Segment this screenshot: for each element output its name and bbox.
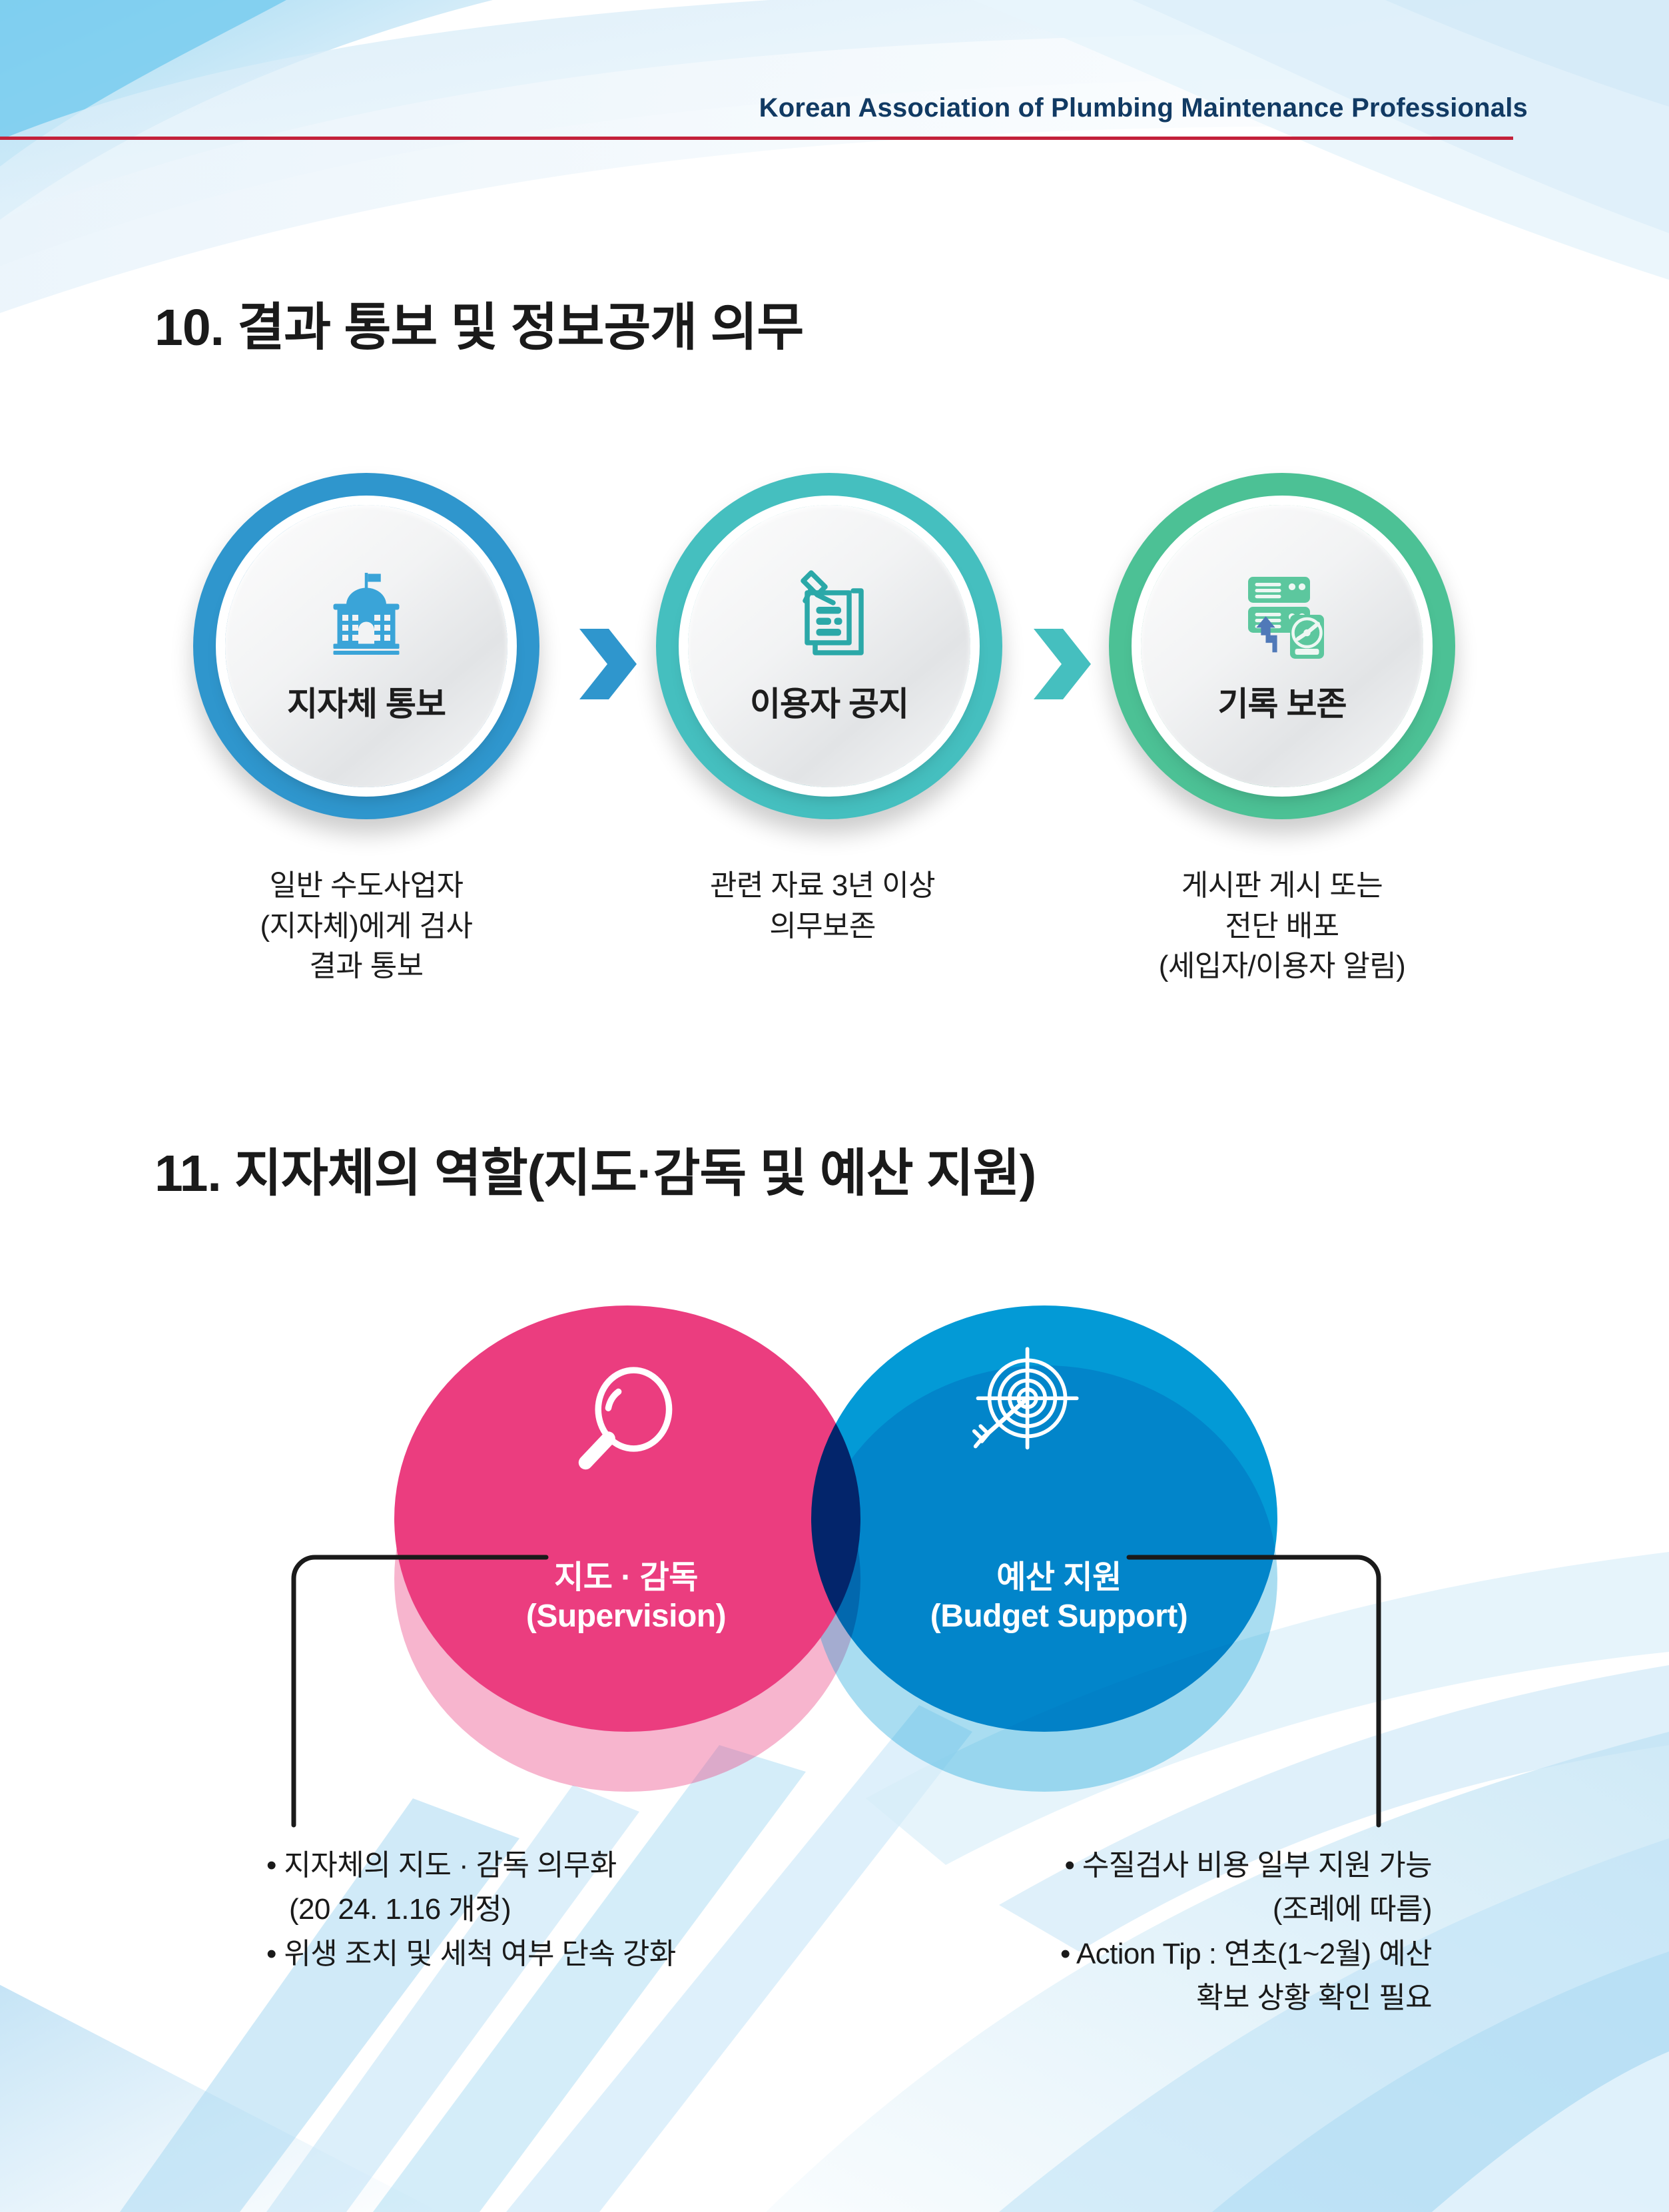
bullet-line: • Action Tip : 연초(1~2월) 예산 bbox=[926, 1934, 1432, 1975]
pinned-notes-icon bbox=[779, 563, 879, 663]
process-step-3-label: 기록 보존 bbox=[1218, 677, 1347, 725]
caption-line: 관련 자료 3년 이상 bbox=[636, 866, 1009, 907]
organization-title: Korean Association of Plumbing Maintenan… bbox=[759, 93, 1528, 123]
bullet-line: • 수질검사 비용 일부 지원 가능 bbox=[926, 1845, 1432, 1886]
section-11-heading: 11. 지자체의 역할(지도·감독 및 예산 지원) bbox=[155, 1132, 1036, 1206]
process-step-1-inner: 지자체 통보 bbox=[225, 505, 507, 787]
caption-line: (세입자/이용자 알림) bbox=[1096, 946, 1469, 987]
process-step-2-inner: 이용자 공지 bbox=[688, 505, 970, 787]
caption-line: 게시판 게시 또는 bbox=[1096, 866, 1469, 907]
supervision-bullets: • 지자체의 지도 · 감독 의무화 (20 24. 1.16 개정) • 위생… bbox=[266, 1845, 759, 1978]
caption-line: 결과 통보 bbox=[180, 946, 553, 987]
caption-line: 일반 수도사업자 bbox=[180, 866, 553, 907]
process-step-2-caption: 관련 자료 3년 이상 의무보존 bbox=[636, 866, 1009, 946]
magnifier-icon bbox=[563, 1359, 689, 1485]
chevron-right-icon-2 bbox=[1034, 629, 1091, 699]
left-bracket bbox=[294, 1557, 546, 1825]
process-step-3[interactable]: 기록 보존 bbox=[1109, 473, 1455, 819]
caption-line: (지자체)에게 검사 bbox=[180, 907, 553, 947]
budget-support-bullets: • 수질검사 비용 일부 지원 가능 (조례에 따름) • Action Tip… bbox=[926, 1845, 1432, 2022]
slide-page: Korean Association of Plumbing Maintenan… bbox=[0, 0, 1669, 2212]
target-arrow-icon bbox=[959, 1339, 1086, 1465]
process-step-3-inner: 기록 보존 bbox=[1141, 505, 1423, 787]
bullet-line: (20 24. 1.16 개정) bbox=[266, 1889, 759, 1930]
bullet-line: • 위생 조치 및 세척 여부 단속 강화 bbox=[266, 1934, 759, 1975]
chevron-right-icon-1 bbox=[579, 629, 637, 699]
bullet-line: (조례에 따름) bbox=[926, 1889, 1432, 1930]
caption-line: 전단 배포 bbox=[1096, 907, 1469, 947]
process-step-2[interactable]: 이용자 공지 bbox=[656, 473, 1002, 819]
process-step-1-caption: 일반 수도사업자 (지자체)에게 검사 결과 통보 bbox=[180, 866, 553, 987]
bracket-connectors bbox=[0, 1532, 1669, 1878]
section-10-heading: 10. 결과 통보 및 정보공개 의무 bbox=[155, 286, 803, 360]
bullet-line: • 지자체의 지도 · 감독 의무화 bbox=[266, 1845, 759, 1886]
government-building-icon bbox=[316, 563, 416, 663]
header-divider-rule bbox=[0, 137, 1513, 140]
server-backup-icon bbox=[1232, 563, 1332, 663]
process-flow-row: 지자체 통보 bbox=[0, 466, 1669, 839]
process-step-3-caption: 게시판 게시 또는 전단 배포 (세입자/이용자 알림) bbox=[1096, 866, 1469, 987]
right-bracket bbox=[1129, 1557, 1379, 1825]
process-step-2-label: 이용자 공지 bbox=[750, 677, 908, 725]
process-step-1[interactable]: 지자체 통보 bbox=[193, 473, 539, 819]
process-step-1-label: 지자체 통보 bbox=[287, 677, 446, 725]
page-header: Korean Association of Plumbing Maintenan… bbox=[0, 0, 1669, 153]
caption-line: 의무보존 bbox=[636, 907, 1009, 947]
bullet-line: 확보 상황 확인 필요 bbox=[926, 1978, 1432, 2019]
